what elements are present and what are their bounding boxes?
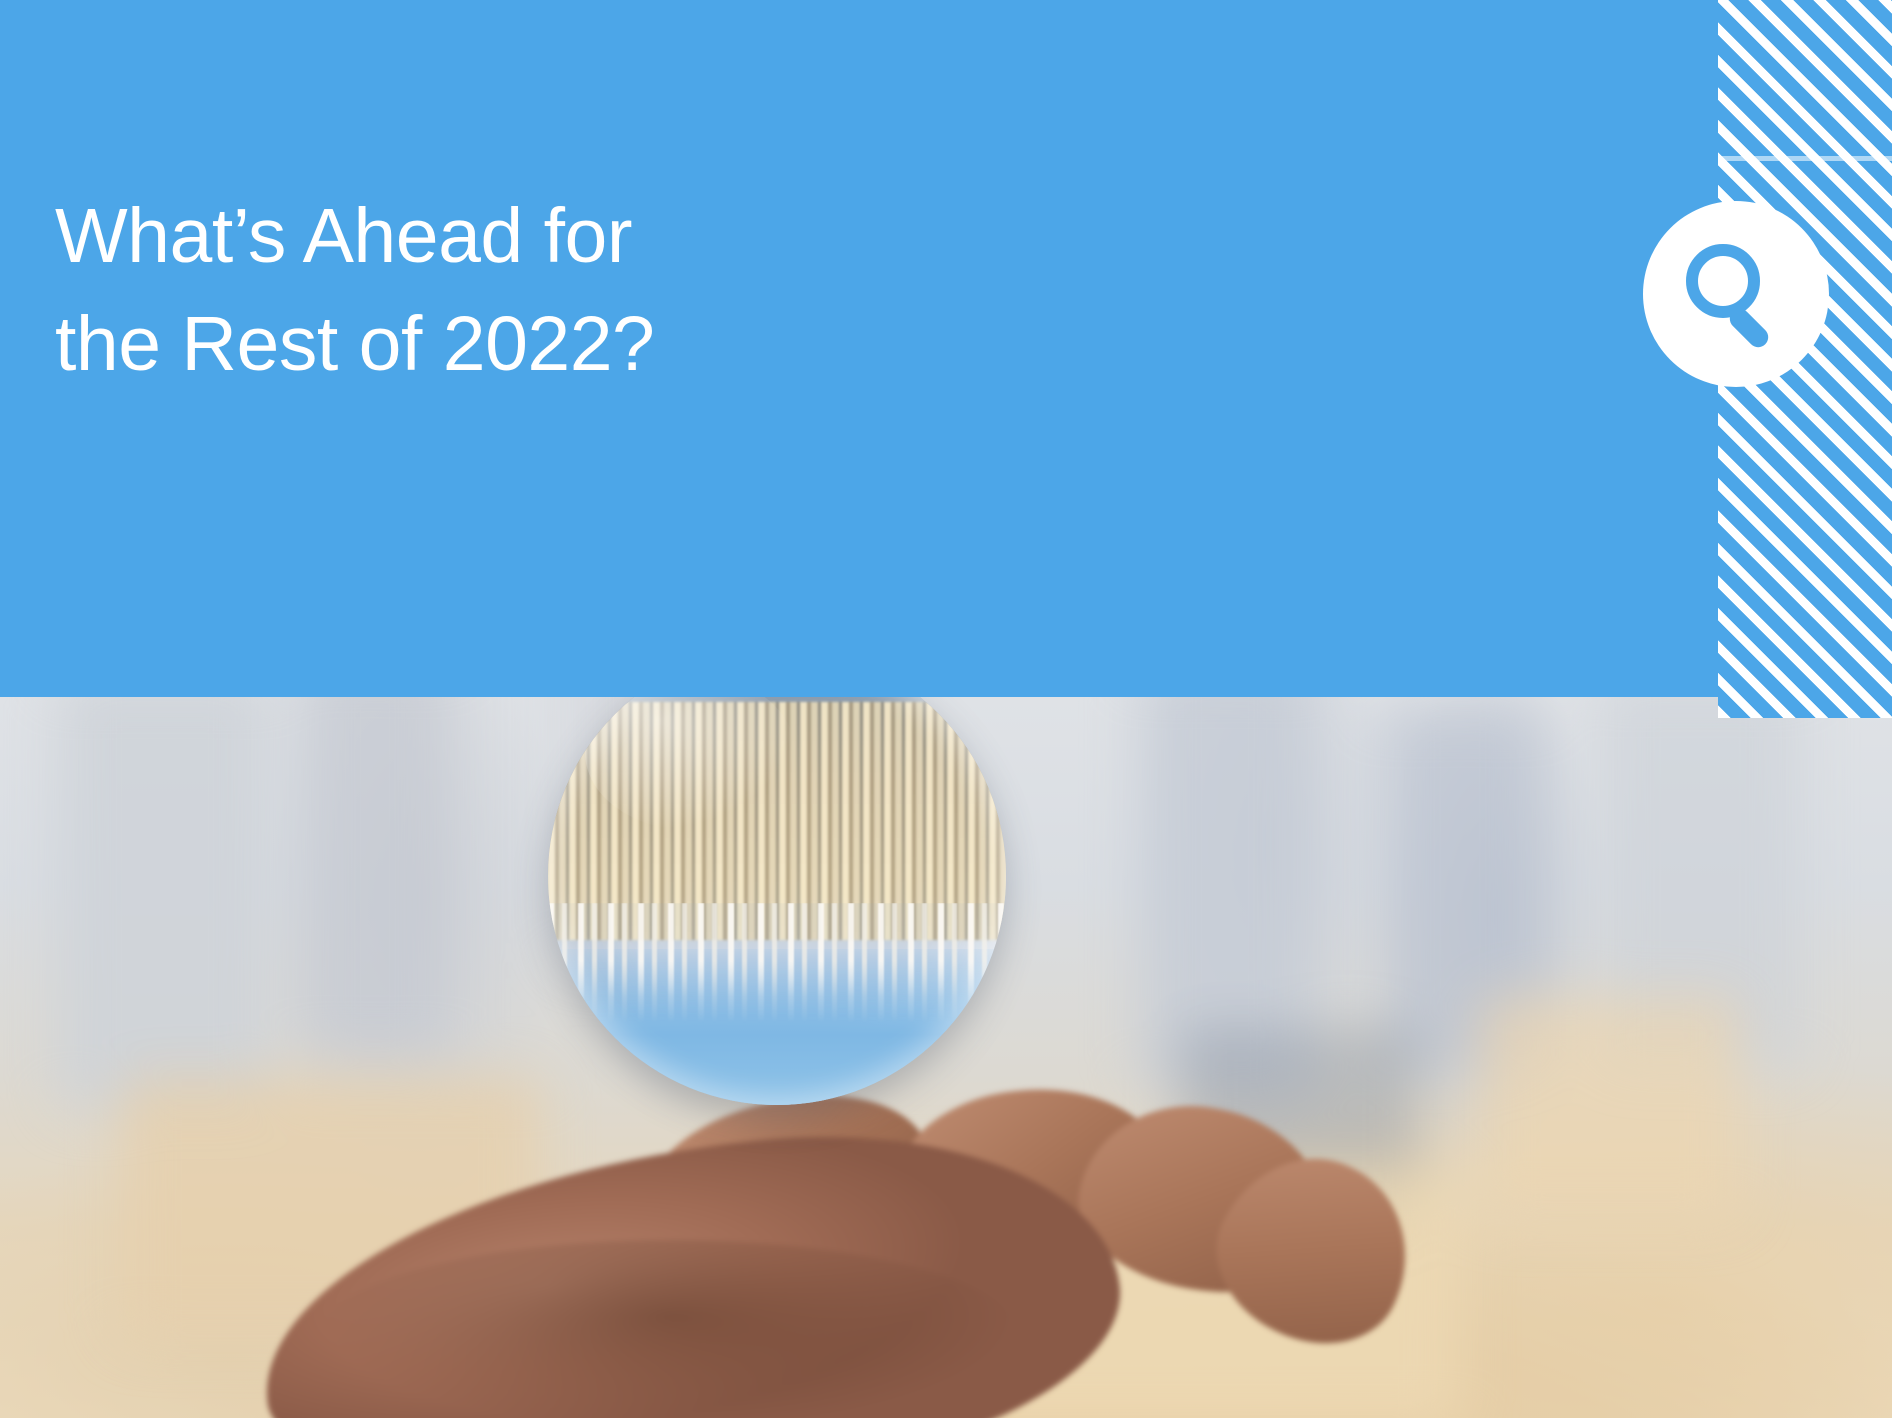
page-title: What’s Ahead for the Rest of 2022? [55,182,1155,398]
search-icon-badge [1643,201,1829,387]
title-line-1: What’s Ahead for [55,182,1155,290]
hero-photo [0,697,1892,1418]
palm-shadow [320,1240,1020,1418]
title-line-2: the Rest of 2022? [55,290,1155,398]
hand [200,1090,1300,1418]
crystal-ball [548,697,1006,1105]
search-icon [1677,235,1795,353]
stripe-divider-line [1718,156,1892,161]
slide: What’s Ahead for the Rest of 2022? [0,0,1892,1418]
